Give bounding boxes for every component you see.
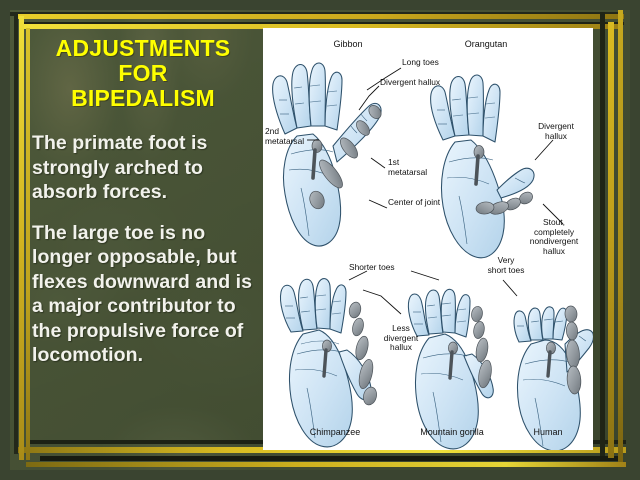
label-divergent-hallux-gibbon: Divergent hallux: [380, 78, 440, 88]
border-left-dark-rule: [14, 14, 18, 454]
label-shorter-toes: Shorter toes: [349, 263, 395, 273]
label-2nd-metatarsal: 2nd metatarsal: [265, 127, 304, 146]
label-long-toes: Long toes: [402, 58, 439, 68]
label-orangutan: Orangutan: [441, 40, 531, 50]
figure-panel: Gibbon Orangutan Long toes Divergent hal…: [263, 28, 593, 450]
label-human: Human: [508, 428, 588, 438]
border-top-gold-rule: [14, 14, 624, 19]
slide-title-line-1: ADJUSTMENTS: [32, 36, 254, 61]
label-center-of-joint: Center of joint: [388, 198, 440, 208]
slide-title: ADJUSTMENTS FOR BIPEDALISM: [32, 36, 254, 111]
border-right-dark-rule: [600, 12, 605, 456]
label-less-divergent-hallux: Less divergent hallux: [369, 324, 433, 353]
border-bottom-dark-rule-2: [40, 456, 622, 461]
body-paragraph-2: The large toe is no longer opposable, bu…: [32, 221, 254, 368]
border-left-gold-rule: [19, 16, 24, 460]
label-gibbon: Gibbon: [303, 40, 393, 50]
label-divergent-hallux-orangutan: Divergent hallux: [521, 122, 591, 141]
border-right-gold-rule: [608, 22, 614, 458]
border-left-gold-rule-2: [26, 28, 30, 460]
label-1st-metatarsal: 1st metatarsal: [388, 158, 427, 177]
body-paragraph-1: The primate foot is strongly arched to a…: [32, 131, 254, 205]
border-right-gold-rule-2: [618, 10, 623, 462]
label-stout-nondivergent-hallux: Stout, completely nondivergent hallux: [516, 218, 592, 256]
slide-title-line-3: BIPEDALISM: [32, 86, 254, 111]
label-mountain-gorilla: Mountain gorilla: [404, 428, 500, 438]
label-chimpanzee: Chimpanzee: [287, 428, 383, 438]
slide: ADJUSTMENTS FOR BIPEDALISM The primate f…: [0, 0, 640, 480]
border-bottom-gold-rule-2: [26, 462, 626, 467]
text-column: ADJUSTMENTS FOR BIPEDALISM The primate f…: [32, 30, 254, 435]
label-very-short-toes: Very short toes: [473, 256, 539, 275]
slide-title-line-2: FOR: [32, 61, 254, 86]
